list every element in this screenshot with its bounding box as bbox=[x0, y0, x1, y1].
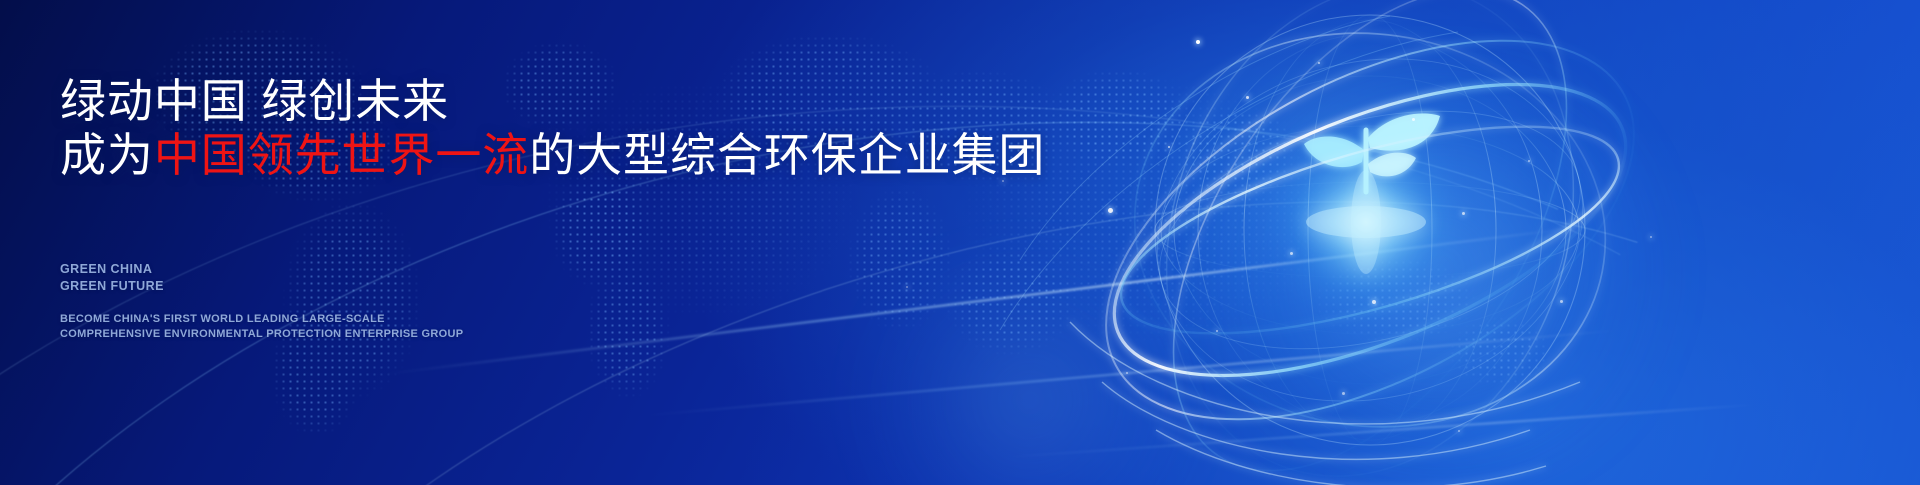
particle bbox=[1342, 392, 1345, 395]
particle bbox=[1108, 208, 1113, 213]
hero-banner: 绿动中国 绿创未来 成为中国领先世界一流的大型综合环保企业集团 GREEN CH… bbox=[0, 0, 1920, 485]
particle bbox=[1318, 62, 1320, 64]
headline-line-1: 绿动中国 绿创未来 bbox=[60, 78, 449, 124]
banner-copy: 绿动中国 绿创未来 成为中国领先世界一流的大型综合环保企业集团 GREEN CH… bbox=[60, 0, 1060, 485]
mission-statement-english: BECOME CHINA'S FIRST WORLD LEADING LARGE… bbox=[60, 312, 463, 342]
wireframe-globe-graphic bbox=[1060, 0, 1680, 485]
particle bbox=[1290, 252, 1293, 255]
headline-line-2-highlight: 中国领先世界一流 bbox=[154, 129, 529, 181]
particle bbox=[1168, 146, 1170, 148]
headline-line-2: 成为中国领先世界一流的大型综合环保企业集团 bbox=[60, 132, 1045, 178]
particle bbox=[1216, 330, 1218, 332]
headline-line-2-suffix: 的大型综合环保企业集团 bbox=[529, 129, 1045, 181]
particle bbox=[1126, 372, 1128, 374]
particle bbox=[1458, 430, 1460, 432]
particle bbox=[1560, 300, 1563, 303]
particle bbox=[1462, 212, 1465, 215]
particle bbox=[1412, 118, 1415, 121]
particle bbox=[1246, 96, 1249, 99]
particle bbox=[1650, 236, 1652, 238]
headline-line-2-prefix: 成为 bbox=[60, 129, 154, 181]
particle bbox=[1196, 40, 1200, 44]
particle bbox=[1528, 160, 1530, 162]
particle bbox=[1372, 300, 1376, 304]
slogan-english: GREEN CHINA GREEN FUTURE bbox=[60, 261, 164, 294]
